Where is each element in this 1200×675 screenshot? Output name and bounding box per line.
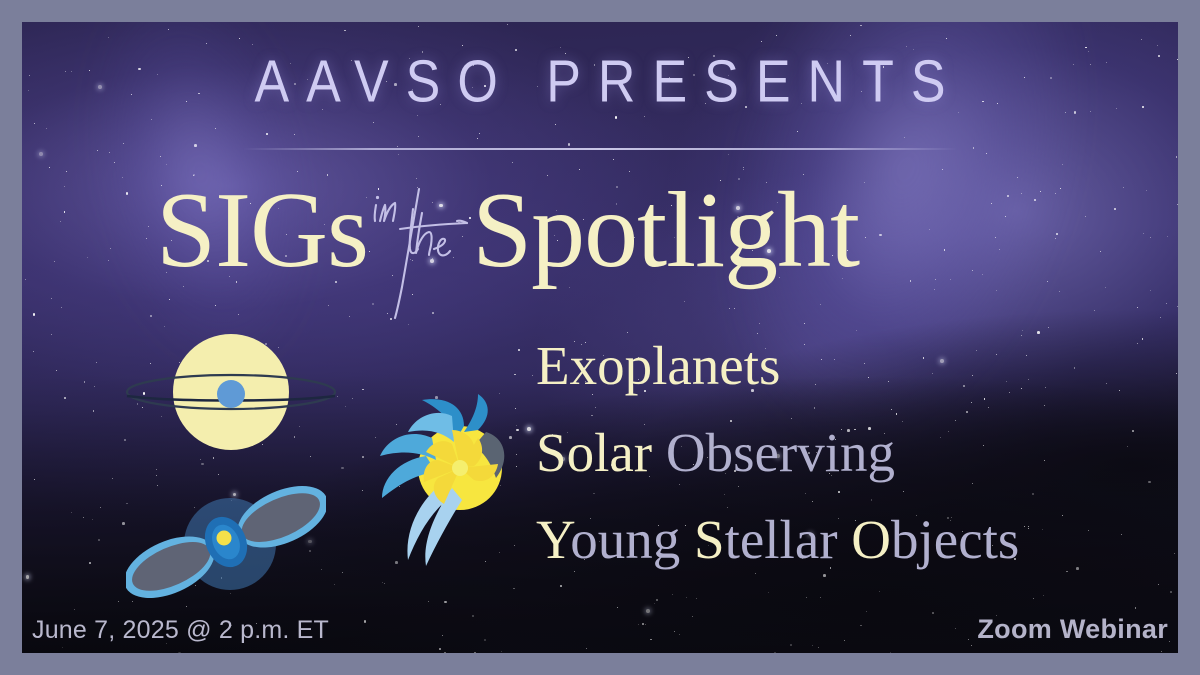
sig-label-exoplanets: Exoplanets xyxy=(536,335,780,396)
sig-item-solar-observing: Solar Observing xyxy=(536,409,1019,496)
poster-frame: AAVSO PRESENTS SIGs xyxy=(0,0,1200,675)
event-datetime: June 7, 2025 @ 2 p.m. ET xyxy=(32,616,329,645)
young-stellar-object-icon xyxy=(126,470,326,614)
header-divider xyxy=(243,148,957,150)
sig-label-solar: Solar xyxy=(536,422,666,483)
title-spotlight: Spotlight xyxy=(472,171,859,290)
sig-label-tellar: tellar xyxy=(725,509,852,570)
title-script-in-the xyxy=(368,265,472,266)
sig-label-bjects: bjects xyxy=(891,509,1019,570)
exoplanet-transit-icon xyxy=(122,328,340,456)
sig-list: Exoplanets Solar Observing Young Stellar… xyxy=(536,322,1019,583)
event-platform: Zoom Webinar xyxy=(977,614,1168,645)
sig-label-observing: Observing xyxy=(666,422,895,483)
eyebrow-title: AAVSO PRESENTS xyxy=(22,48,1178,116)
sig-label-s: S xyxy=(694,509,725,570)
page-title: SIGs xyxy=(156,177,859,285)
sig-item-exoplanets: Exoplanets xyxy=(536,322,1019,409)
title-sigs: SIGs xyxy=(156,171,368,290)
sig-label-o: O xyxy=(851,509,891,570)
poster-canvas: AAVSO PRESENTS SIGs xyxy=(22,22,1178,653)
sig-label-oung: oung xyxy=(570,509,694,570)
sig-item-young-stellar-objects: Young Stellar Objects xyxy=(536,496,1019,583)
solar-sun-icon xyxy=(360,394,544,570)
